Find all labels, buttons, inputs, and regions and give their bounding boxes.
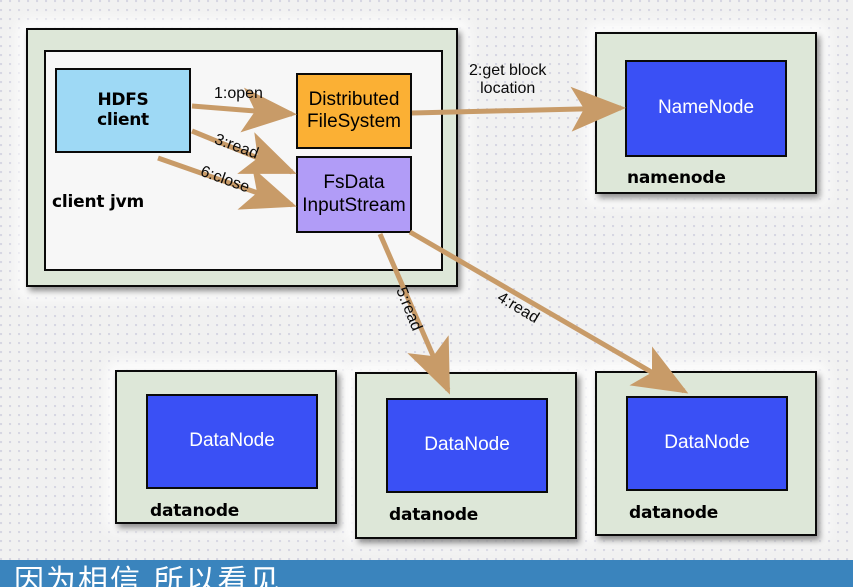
arrow-label-2-get-block-location: 2:get block location: [469, 62, 546, 99]
fsdata-inputstream-box[interactable]: FsData InputStream: [296, 156, 412, 233]
datanode-1-box-label: DataNode: [189, 430, 275, 452]
fsdata-inputstream-line-2: InputStream: [302, 195, 406, 217]
distributed-filesystem-box[interactable]: Distributed FileSystem: [296, 73, 412, 149]
distributed-filesystem-line-1: Distributed: [309, 89, 400, 111]
client-jvm-label: client jvm: [52, 192, 144, 212]
namenode-label: namenode: [627, 168, 726, 188]
arrow-label-2-line-1: 2:get block: [469, 62, 546, 80]
hdfs-client-line-2: client: [97, 111, 149, 131]
datanode-2-box-label: DataNode: [424, 434, 510, 456]
datanode-2-label: datanode: [389, 505, 478, 525]
arrow-label-4-read: 4:read: [494, 289, 542, 328]
datanode-3-box[interactable]: DataNode: [626, 396, 788, 491]
datanode-1-label: datanode: [150, 501, 239, 521]
datanode-3-box-label: DataNode: [664, 432, 750, 454]
datanode-3-label: datanode: [629, 503, 718, 523]
fsdata-inputstream-line-1: FsData: [323, 172, 384, 194]
distributed-filesystem-line-2: FileSystem: [307, 111, 401, 133]
namenode-box[interactable]: NameNode: [625, 60, 787, 157]
datanode-1-box[interactable]: DataNode: [146, 394, 318, 489]
hdfs-client-line-1: HDFS: [98, 91, 149, 111]
hdfs-client-box[interactable]: HDFS client: [55, 68, 191, 153]
arrow-label-1-open: 1:open: [214, 85, 263, 103]
caption-bar: 因为相信 所以看见: [0, 560, 853, 587]
hdfs-read-flow-diagram: client node client jvm HDFS client Distr…: [0, 0, 853, 587]
arrow-label-2-line-2: location: [469, 80, 546, 98]
datanode-2-box[interactable]: DataNode: [386, 398, 548, 493]
namenode-box-label: NameNode: [658, 97, 754, 119]
caption-text: 因为相信 所以看见: [14, 560, 282, 587]
